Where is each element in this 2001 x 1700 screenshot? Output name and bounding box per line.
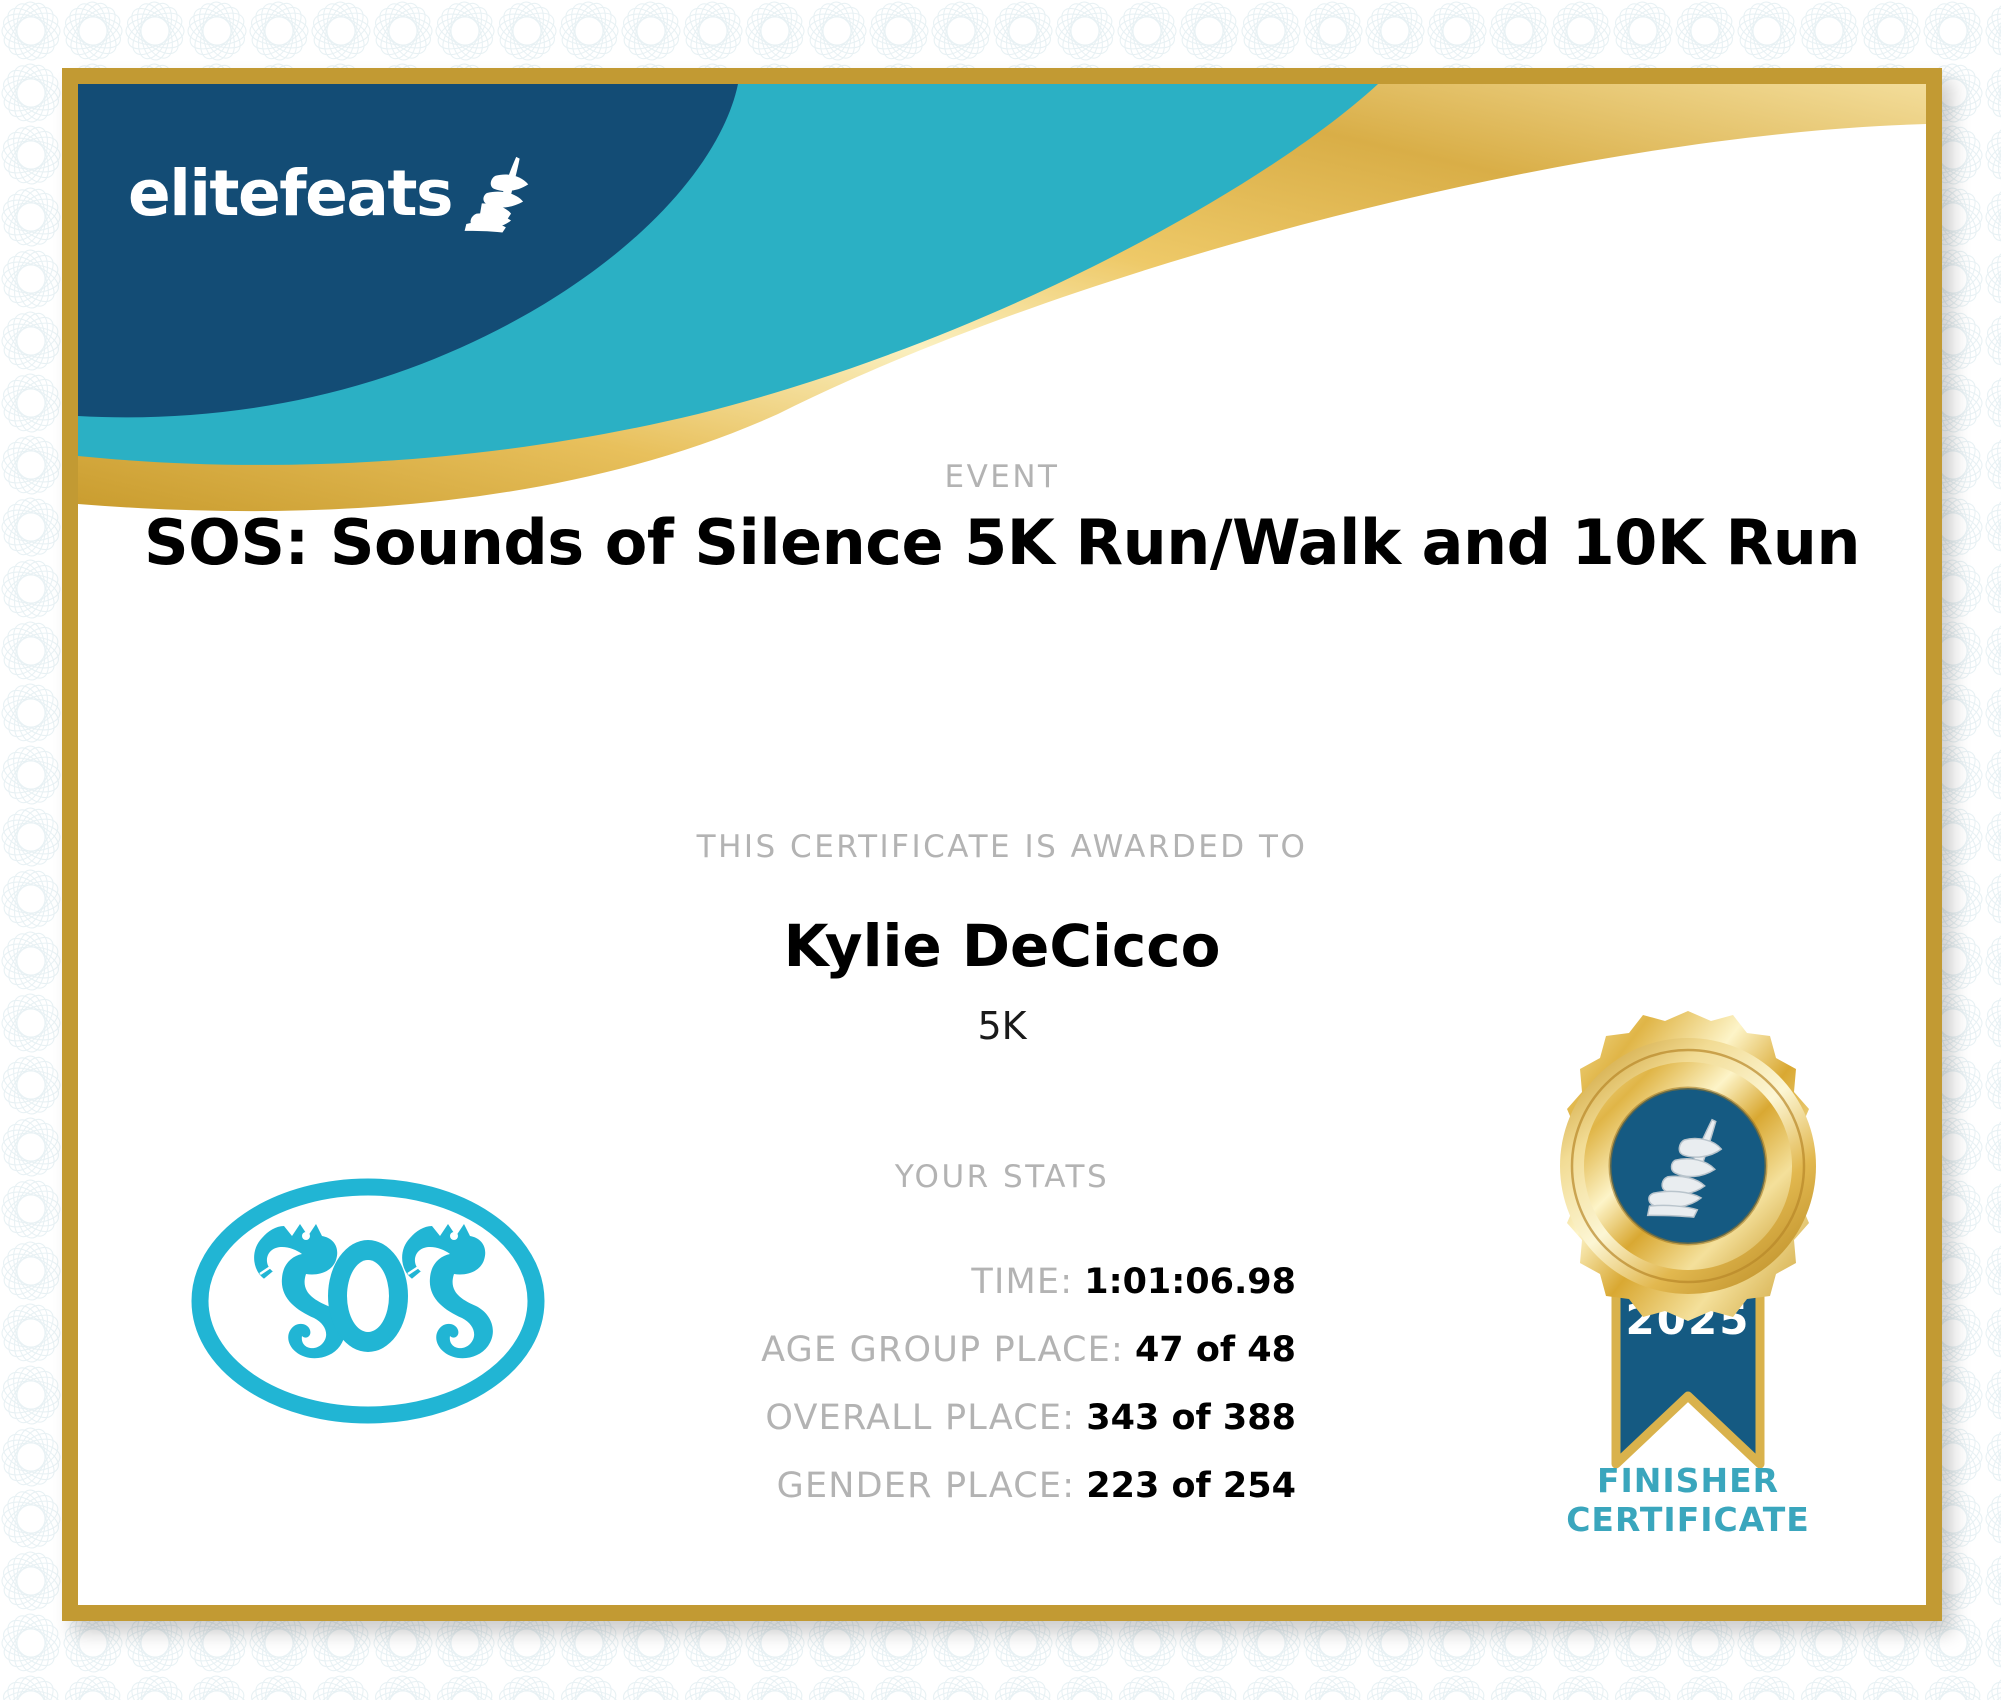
finisher-caption-line1: FINISHER <box>1508 1462 1868 1501</box>
winged-foot-icon <box>456 150 542 236</box>
recipient-name: Kylie DeCicco <box>78 912 1926 980</box>
stat-label: GENDER PLACE: <box>777 1466 1076 1506</box>
event-title: SOS: Sounds of Silence 5K Run/Walk and 1… <box>78 506 1926 579</box>
finisher-medal: 2025 <box>1508 1004 1868 1534</box>
stat-value: 47 of 48 <box>1135 1330 1296 1370</box>
sos-seahorse-logo <box>188 1174 548 1429</box>
brand-logo: elitefeats <box>128 150 542 236</box>
stat-value: 343 of 388 <box>1086 1398 1296 1438</box>
stat-value: 223 of 254 <box>1086 1466 1296 1506</box>
finisher-caption-line2: CERTIFICATE <box>1508 1501 1868 1540</box>
stat-row-gender-place: GENDER PLACE: 223 of 254 <box>78 1466 1296 1506</box>
awarded-to-label: THIS CERTIFICATE IS AWARDED TO <box>78 829 1926 865</box>
stat-label: TIME: <box>971 1262 1073 1302</box>
stat-value: 1:01:06.98 <box>1084 1262 1296 1302</box>
stat-label: AGE GROUP PLACE: <box>761 1330 1124 1370</box>
finisher-caption: FINISHER CERTIFICATE <box>1508 1462 1868 1540</box>
certificate-frame: elitefeats EVENT SOS: Sounds of Silence … <box>62 68 1942 1621</box>
brand-wordmark: elitefeats <box>128 162 452 225</box>
certificate-body: elitefeats EVENT SOS: Sounds of Silence … <box>78 84 1926 1605</box>
certificate-content: EVENT SOS: Sounds of Silence 5K Run/Walk… <box>78 84 1926 1605</box>
event-label: EVENT <box>78 459 1926 495</box>
stat-label: OVERALL PLACE: <box>765 1398 1075 1438</box>
